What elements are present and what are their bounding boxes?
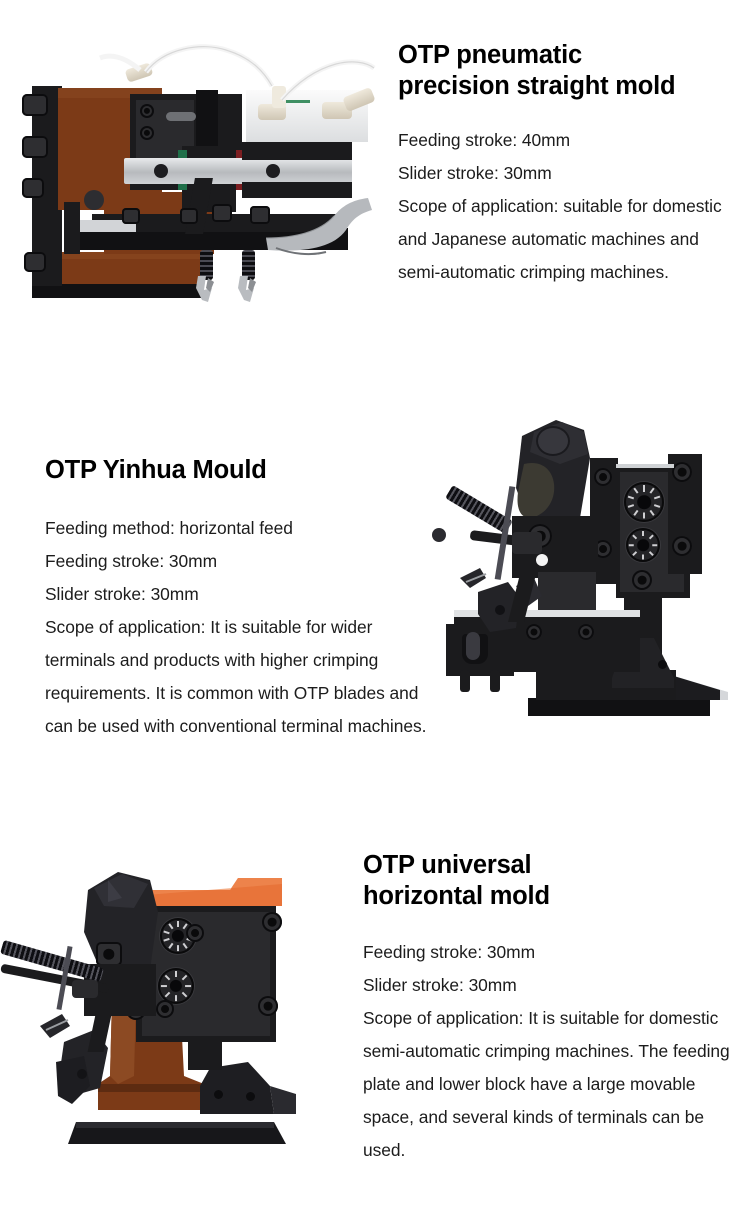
- pivot-boss: [84, 190, 104, 210]
- blade-holder: [38, 1000, 138, 1110]
- lever-knuckle: [72, 980, 98, 998]
- rail-hole-1: [154, 164, 168, 178]
- ram-bolt: [96, 942, 122, 966]
- foot-hole-1: [214, 1090, 223, 1099]
- clamp-jaws-2: [232, 276, 268, 306]
- lever-knuckle: [512, 532, 542, 554]
- plate-bolt-5: [262, 912, 282, 932]
- plate-bolt-3: [672, 462, 692, 482]
- plate-bolt-4: [156, 1000, 174, 1018]
- product-block-universal: OTP universal horizontal mold Feeding st…: [0, 820, 750, 1229]
- feed-tray: [260, 194, 376, 260]
- spec-line: Feeding stroke: 30mm: [363, 936, 743, 969]
- product-block-pneumatic: OTP pneumatic precision straight mold Fe…: [0, 0, 750, 400]
- pneumatic-hoses: [14, 42, 376, 162]
- deck-riser-left: [64, 202, 80, 254]
- ram-cap: [536, 426, 570, 456]
- ram-window: [514, 460, 560, 522]
- product-photo-yinhua: [418, 412, 730, 730]
- spec-line: Slider stroke: 30mm: [398, 157, 734, 190]
- deck-knob-1: [122, 208, 140, 224]
- product-scope: Scope of application: It is suitable for…: [363, 1002, 743, 1167]
- adjust-knob-3: [22, 178, 44, 198]
- spec-line: Slider stroke: 30mm: [363, 969, 743, 1002]
- product-photo-pneumatic: [14, 42, 376, 304]
- adjustment-dial-lower: [626, 528, 660, 562]
- deck-knob-2: [180, 208, 198, 224]
- clamp-stud-2: [490, 670, 500, 692]
- clamp-jaws-1: [190, 276, 226, 306]
- product-copy-universal: OTP universal horizontal mold Feeding st…: [363, 850, 743, 1167]
- product-block-yinhua: OTP Yinhua Mould Feeding method: horizon…: [0, 400, 750, 820]
- plate-neck: [188, 1036, 222, 1070]
- clamp-stud-1: [460, 670, 470, 692]
- product-specs: Feeding stroke: 40mm Slider stroke: 30mm…: [398, 124, 734, 289]
- product-scope: Scope of application: suitable for domes…: [398, 190, 734, 289]
- product-photo-universal: [0, 842, 330, 1172]
- product-title: OTP universal horizontal mold: [363, 850, 743, 912]
- adjustment-dial-upper: [624, 482, 664, 522]
- plate-bolt-3: [186, 924, 204, 942]
- adjust-knob-4: [24, 252, 46, 272]
- product-scope: Scope of application: It is suitable for…: [45, 611, 441, 743]
- product-specs: Feeding stroke: 30mm Slider stroke: 30mm…: [363, 936, 743, 1167]
- table-bolt-2: [578, 624, 594, 640]
- table-front: [510, 646, 640, 672]
- rail-hole-2: [266, 164, 280, 178]
- plate-bolt-5: [632, 570, 652, 590]
- plate-bolt-6: [258, 996, 278, 1016]
- lever-ball-end: [432, 528, 446, 542]
- holder-hole: [536, 554, 548, 566]
- plate-bolt-4: [672, 536, 692, 556]
- deck-knob-3: [212, 204, 232, 222]
- plate-shim: [616, 464, 674, 468]
- product-title: OTP pneumatic precision straight mold: [398, 40, 734, 102]
- spec-line: Feeding stroke: 40mm: [398, 124, 734, 157]
- foot-hole-2: [246, 1092, 255, 1101]
- pillar-hole-2: [658, 660, 667, 669]
- ram-head: [78, 868, 174, 978]
- product-copy-pneumatic: OTP pneumatic precision straight mold Fe…: [398, 40, 734, 289]
